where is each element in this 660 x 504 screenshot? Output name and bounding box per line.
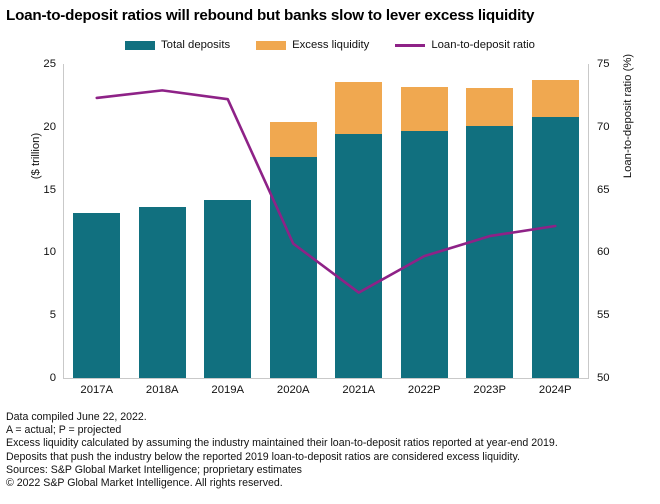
legend-item[interactable]: Total deposits <box>125 39 230 51</box>
footnote-line: Data compiled June 22, 2022. <box>6 411 654 424</box>
y-tick-right: 55 <box>597 309 641 321</box>
footnote-line: Excess liquidity calculated by assuming … <box>6 437 654 450</box>
x-tick-label: 2018A <box>130 384 196 397</box>
legend-color-swatch <box>256 41 286 50</box>
legend-color-swatch <box>125 41 155 50</box>
y-tick-right: 65 <box>597 184 641 196</box>
footnote-line: Sources: S&P Global Market Intelligence;… <box>6 464 654 477</box>
footnotes: Data compiled June 22, 2022.A = actual; … <box>6 411 654 490</box>
y-tick-left: 25 <box>12 58 56 70</box>
x-tick-label: 2019A <box>195 384 261 397</box>
y-tick-right: 75 <box>597 58 641 70</box>
chart-title: Loan-to-deposit ratios will rebound but … <box>6 7 654 24</box>
x-tick-label: 2017A <box>64 384 130 397</box>
footnote-line: Deposits that push the industry below th… <box>6 451 654 464</box>
x-tick-label: 2020A <box>261 384 327 397</box>
y-axis-left-title: ($ trillion) <box>30 76 42 236</box>
y-axis-right-title: Loan-to-deposit ratio (%) <box>622 16 634 216</box>
chart-legend: Total depositsExcess liquidityLoan-to-de… <box>0 36 660 54</box>
line-series-layer <box>64 64 588 378</box>
x-tick-label: 2024P <box>523 384 589 397</box>
y-tick-right: 60 <box>597 246 641 258</box>
y-tick-left: 5 <box>12 309 56 321</box>
axis-line-right <box>588 64 589 378</box>
y-tick-left: 0 <box>12 372 56 384</box>
legend-item[interactable]: Loan-to-deposit ratio <box>395 39 535 51</box>
y-tick-right: 70 <box>597 121 641 133</box>
legend-label: Total deposits <box>161 39 230 51</box>
legend-label: Loan-to-deposit ratio <box>431 39 535 51</box>
x-tick-label: 2021A <box>326 384 392 397</box>
x-tick-label: 2022P <box>392 384 458 397</box>
footnote-line: A = actual; P = projected <box>6 424 654 437</box>
legend-line-marker <box>395 44 425 47</box>
axis-line-bottom <box>63 378 589 379</box>
y-tick-left: 10 <box>12 246 56 258</box>
legend-item[interactable]: Excess liquidity <box>256 39 369 51</box>
loan-to-deposit-ratio-line <box>97 90 556 292</box>
chart-root: Loan-to-deposit ratios will rebound but … <box>0 0 660 504</box>
y-tick-right: 50 <box>597 372 641 384</box>
legend-label: Excess liquidity <box>292 39 369 51</box>
footnote-line: © 2022 S&P Global Market Intelligence. A… <box>6 477 654 490</box>
plot-area <box>64 64 588 378</box>
x-tick-label: 2023P <box>457 384 523 397</box>
